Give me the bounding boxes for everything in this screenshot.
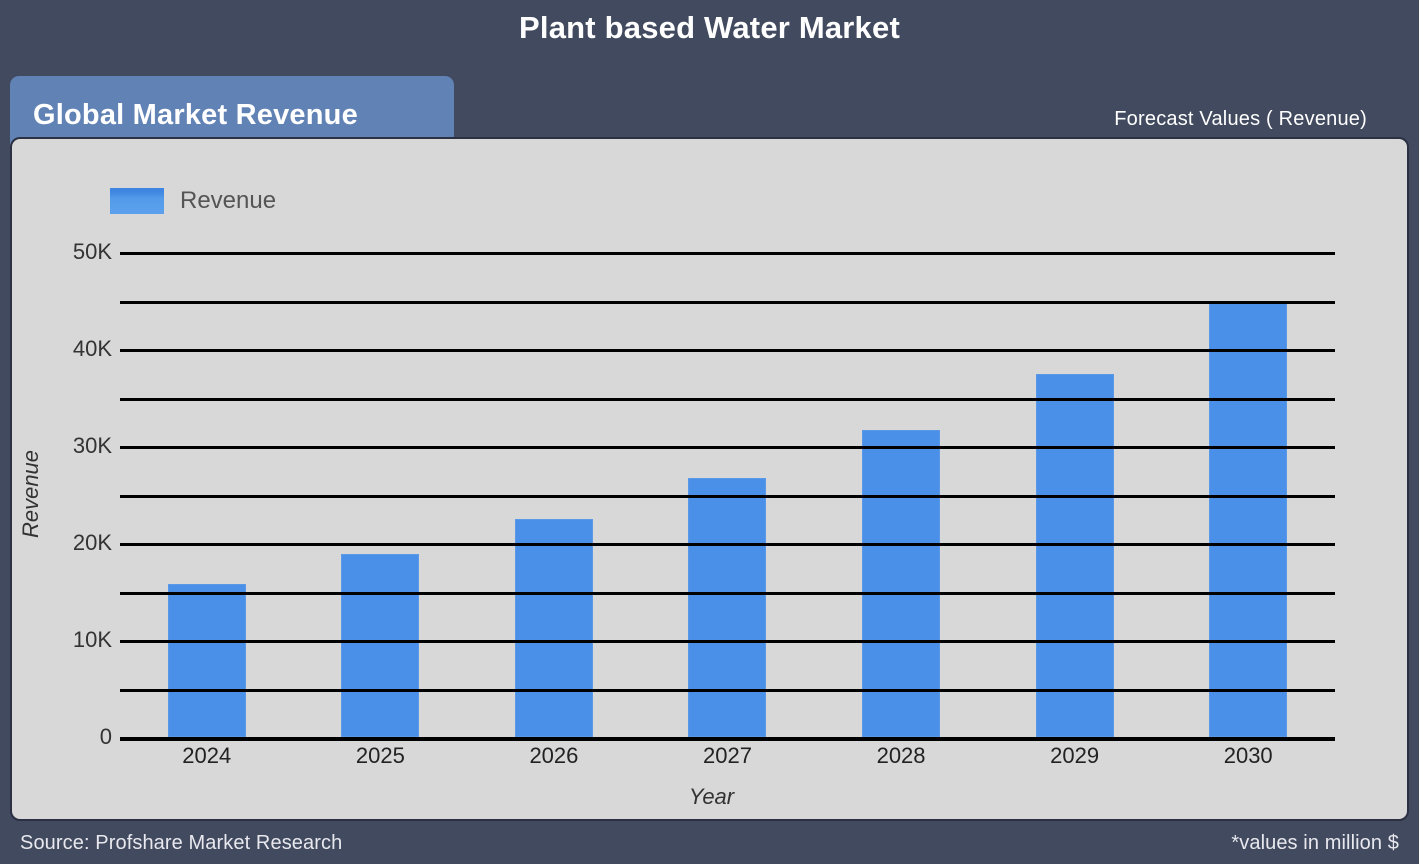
gridline: [120, 301, 1335, 304]
gridline: [120, 495, 1335, 498]
x-axis-tick-label: 2025: [295, 743, 465, 769]
y-axis-tick-label: 10K: [22, 627, 112, 653]
gridline: [120, 446, 1335, 449]
badge-label: Global Market Revenue: [10, 99, 358, 132]
bar-2026[interactable]: [515, 519, 593, 737]
footer-bar: Source: Profshare Market Research *value…: [0, 823, 1419, 864]
gridline: [120, 689, 1335, 692]
bar-2030[interactable]: [1209, 301, 1287, 738]
bar-2024[interactable]: [168, 584, 246, 737]
bars-layer: [120, 139, 1335, 821]
bar-2029[interactable]: [1036, 374, 1114, 737]
y-axis-tick-label: 50K: [22, 239, 112, 265]
gridline: [120, 543, 1335, 546]
y-axis-tick-label: 0: [22, 724, 112, 750]
x-axis-tick-label: 2026: [469, 743, 639, 769]
y-axis-tick-label: 20K: [22, 530, 112, 556]
bar-2027[interactable]: [688, 478, 766, 737]
footer-note: *values in million $: [1231, 832, 1399, 855]
x-axis-tick-label: 2024: [122, 743, 292, 769]
y-axis-title: Revenue: [18, 450, 44, 538]
y-axis-tick-label: 40K: [22, 336, 112, 362]
chart-panel: Revenue Revenue Year 010K20K30K40K50K202…: [10, 137, 1409, 821]
page-title: Plant based Water Market: [0, 10, 1419, 46]
gridline: [120, 252, 1335, 255]
gridline: [120, 398, 1335, 401]
chart-page: Plant based Water Market Global Market R…: [0, 0, 1419, 864]
gridline: [120, 640, 1335, 643]
y-axis-tick-label: 30K: [22, 433, 112, 459]
forecast-caption: Forecast Values ( Revenue): [1114, 108, 1367, 131]
gridline: [120, 592, 1335, 595]
x-axis-tick-label: 2028: [816, 743, 986, 769]
plot-area: Revenue Year 010K20K30K40K50K20242025202…: [12, 139, 1409, 821]
x-axis-title: Year: [12, 784, 1409, 810]
x-axis-tick-label: 2029: [990, 743, 1160, 769]
bar-2025[interactable]: [341, 554, 419, 737]
gridline: [120, 349, 1335, 352]
footer-source: Source: Profshare Market Research: [20, 832, 342, 855]
x-axis-tick-label: 2030: [1163, 743, 1333, 769]
x-axis-tick-label: 2027: [643, 743, 813, 769]
